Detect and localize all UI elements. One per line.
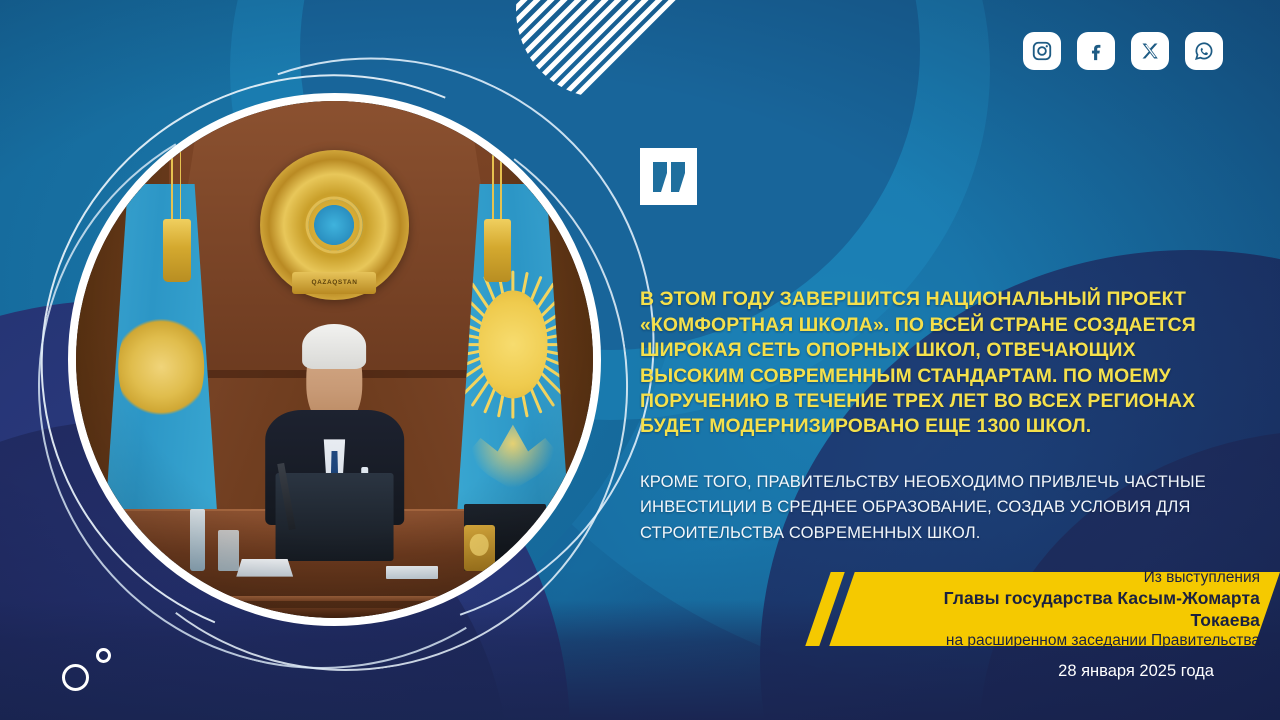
attribution-line-1: Из выступления — [1144, 568, 1260, 587]
photo-vignette — [76, 101, 593, 618]
photo-circle: QAZAQSTAN — [68, 93, 601, 626]
facebook-icon[interactable] — [1077, 32, 1115, 70]
x-twitter-icon[interactable] — [1131, 32, 1169, 70]
attribution-banner: Из выступления Главы государства Касым-Ж… — [812, 572, 1280, 646]
decorative-ring-large — [62, 664, 89, 691]
quote-card: QAZAQSTAN — [0, 0, 1280, 720]
attribution-line-2: Главы государства Касым-Жомарта Токаева — [878, 587, 1260, 631]
instagram-icon[interactable] — [1023, 32, 1061, 70]
photo-white-border: QAZAQSTAN — [68, 93, 601, 626]
president-photograph: QAZAQSTAN — [76, 101, 593, 618]
whatsapp-icon[interactable] — [1185, 32, 1223, 70]
decorative-ring-small — [96, 648, 111, 663]
attribution-date: 28 января 2025 года — [1058, 662, 1214, 681]
banner-text-group: Из выступления Главы государства Касым-Ж… — [878, 572, 1272, 646]
quote-second-paragraph: КРОМЕ ТОГО, ПРАВИТЕЛЬСТВУ НЕОБХОДИМО ПРИ… — [640, 469, 1240, 546]
attribution-line-3: на расширенном заседании Правительства — [946, 631, 1260, 651]
quote-main-paragraph: В ЭТОМ ГОДУ ЗАВЕРШИТСЯ НАЦИОНАЛЬНЫЙ ПРОЕ… — [640, 287, 1240, 439]
social-links — [1023, 32, 1223, 70]
quote-mark-icon — [640, 148, 697, 205]
